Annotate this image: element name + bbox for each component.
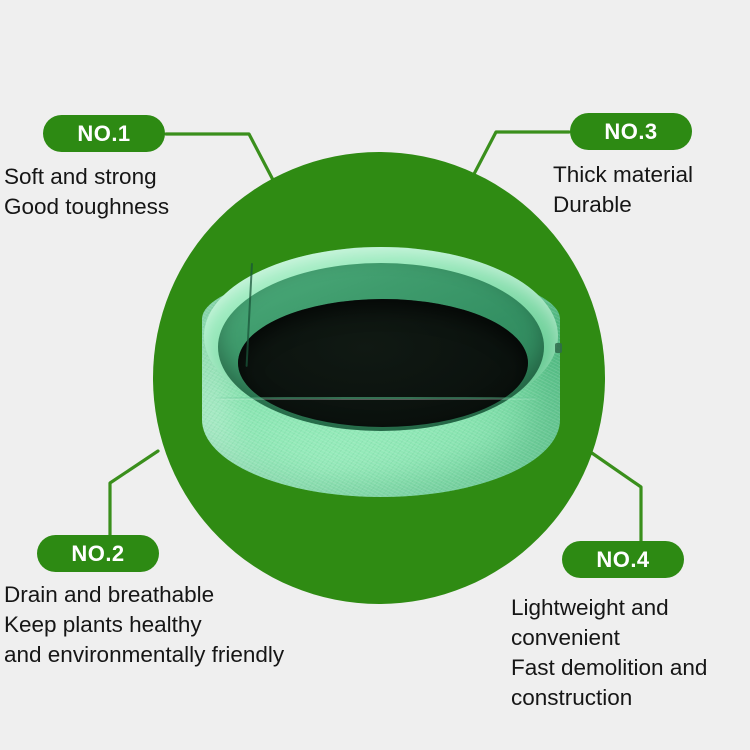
feature-caption-no1: Soft and strong Good toughness (4, 162, 169, 222)
feature-badge-no1: NO.1 (43, 115, 165, 152)
feature-badge-no3: NO.3 (570, 113, 692, 150)
product-image-grow-bag (196, 247, 566, 517)
connector-no4 (589, 451, 641, 541)
grow-bag-stitch-line (216, 397, 538, 399)
infographic-canvas: NO.1 Soft and strong Good toughness NO.3… (0, 0, 750, 750)
connector-no2 (110, 451, 158, 535)
grow-bag-handle-tab (555, 343, 562, 353)
feature-caption-no2: Drain and breathable Keep plants healthy… (4, 580, 284, 670)
feature-caption-no4: Lightweight and convenient Fast demoliti… (511, 593, 707, 713)
feature-badge-no2: NO.2 (37, 535, 159, 572)
feature-caption-no3: Thick material Durable (553, 160, 693, 220)
feature-badge-no4: NO.4 (562, 541, 684, 578)
grow-bag-interior-cavity (238, 299, 528, 427)
